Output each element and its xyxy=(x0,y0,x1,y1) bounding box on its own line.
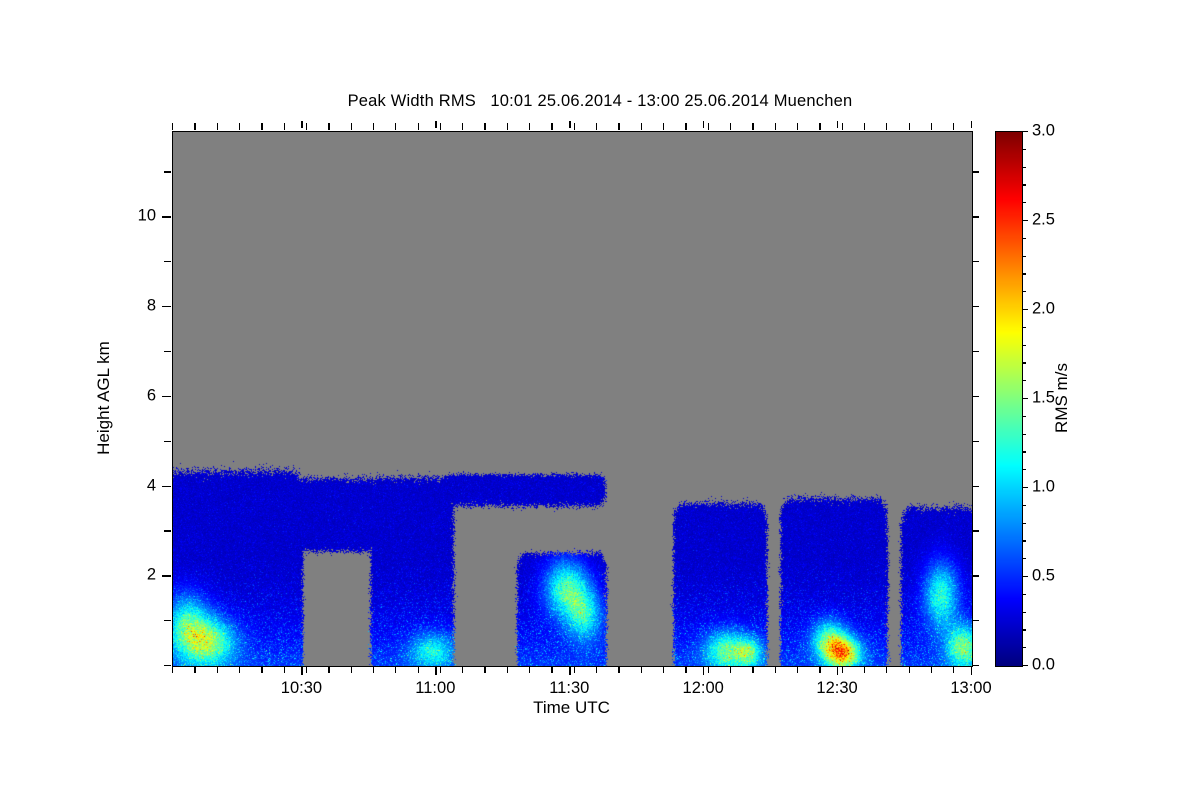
x-axis-minor-tick-top xyxy=(261,123,262,130)
x-axis-minor-tick-top xyxy=(507,123,508,130)
plot-axes xyxy=(172,131,973,667)
colorbar-minor-tick xyxy=(1022,594,1026,595)
colorbar xyxy=(995,131,1023,667)
x-axis-minor-tick-top xyxy=(418,123,419,130)
y-axis-major-tick-right xyxy=(972,486,979,487)
x-axis-minor-tick xyxy=(708,666,709,673)
y-axis-minor-tick-right xyxy=(972,620,979,621)
x-axis-minor-tick xyxy=(484,666,485,673)
x-axis-minor-tick-top xyxy=(931,123,932,130)
x-axis-minor-tick xyxy=(507,666,508,673)
x-axis-minor-tick xyxy=(663,666,664,673)
x-axis-minor-tick-top xyxy=(909,123,910,130)
colorbar-minor-tick xyxy=(1022,558,1026,559)
y-axis-major-tick-right xyxy=(972,216,979,217)
x-axis-major-tick-top xyxy=(971,121,972,128)
y-axis-minor-tick xyxy=(164,441,171,442)
x-axis-major-tick xyxy=(435,666,436,675)
colorbar-major-tick xyxy=(1022,398,1028,399)
x-axis-major-tick-top xyxy=(569,121,570,128)
colorbar-minor-tick xyxy=(1022,184,1026,185)
y-axis-minor-tick xyxy=(164,171,171,172)
x-axis-minor-tick xyxy=(529,666,530,673)
x-axis-minor-tick-top xyxy=(194,123,195,130)
x-axis-minor-tick xyxy=(462,666,463,673)
y-axis-major-tick-right xyxy=(972,575,979,576)
colorbar-tick-label: 2.5 xyxy=(1032,211,1055,230)
x-axis-major-tick xyxy=(703,666,704,675)
x-axis-minor-tick-top xyxy=(172,123,173,130)
y-axis-minor-tick-right xyxy=(972,171,979,172)
colorbar-minor-tick xyxy=(1022,612,1026,613)
x-axis-minor-tick-top xyxy=(373,123,374,130)
x-axis-minor-tick xyxy=(775,666,776,673)
x-axis-minor-tick-top xyxy=(864,123,865,130)
x-axis-minor-tick xyxy=(842,666,843,673)
colorbar-minor-tick xyxy=(1022,149,1026,150)
colorbar-major-tick xyxy=(1022,131,1028,132)
x-axis-minor-tick-top xyxy=(284,123,285,130)
y-axis-tick-label: 4 xyxy=(147,476,156,495)
x-axis-minor-tick xyxy=(284,666,285,673)
x-axis-minor-tick-top xyxy=(328,123,329,130)
x-axis-tick-label: 12:00 xyxy=(683,679,724,698)
x-axis-minor-tick xyxy=(819,666,820,673)
x-axis-major-tick-top xyxy=(301,121,302,128)
x-axis-minor-tick xyxy=(909,666,910,673)
x-axis-minor-tick xyxy=(864,666,865,673)
x-axis-minor-tick-top xyxy=(775,123,776,130)
y-axis-minor-tick xyxy=(164,261,171,262)
x-axis-minor-tick xyxy=(395,666,396,673)
x-axis-tick-label: 11:30 xyxy=(549,679,589,698)
x-axis-tick-label: 10:30 xyxy=(281,679,322,698)
x-axis-minor-tick xyxy=(574,666,575,673)
x-axis-minor-tick-top xyxy=(440,123,441,130)
x-axis-minor-tick-top xyxy=(752,123,753,130)
x-axis-major-tick-top xyxy=(435,121,436,128)
colorbar-minor-tick xyxy=(1022,523,1026,524)
y-axis-major-tick xyxy=(162,575,171,576)
colorbar-minor-tick xyxy=(1022,469,1026,470)
x-axis-minor-tick-top xyxy=(819,123,820,130)
colorbar-minor-tick xyxy=(1022,629,1026,630)
x-axis-tick-label: 12:30 xyxy=(816,679,857,698)
x-axis-major-tick xyxy=(301,666,302,675)
x-axis-minor-tick-top xyxy=(953,123,954,130)
colorbar-minor-tick xyxy=(1022,380,1026,381)
x-axis-minor-tick-top xyxy=(618,123,619,130)
colorbar-major-tick xyxy=(1022,665,1028,666)
colorbar-major-tick xyxy=(1022,309,1028,310)
x-axis-major-tick xyxy=(837,666,838,675)
colorbar-tick-label: 0.5 xyxy=(1032,567,1055,586)
x-axis-minor-tick xyxy=(953,666,954,673)
x-axis-major-tick-top xyxy=(837,121,838,128)
y-axis-tick-label: 8 xyxy=(147,297,156,316)
x-axis-minor-tick xyxy=(306,666,307,673)
x-axis-minor-tick-top xyxy=(217,123,218,130)
y-axis-minor-tick xyxy=(164,665,171,666)
figure-canvas: Peak Width RMS 10:01 25.06.2014 - 13:00 … xyxy=(0,0,1200,800)
x-axis-major-tick xyxy=(971,666,972,675)
colorbar-minor-tick xyxy=(1022,291,1026,292)
x-axis-minor-tick xyxy=(730,666,731,673)
x-axis-minor-tick xyxy=(886,666,887,673)
x-axis-minor-tick-top xyxy=(708,123,709,130)
colorbar-major-tick xyxy=(1022,220,1028,221)
x-axis-minor-tick xyxy=(440,666,441,673)
colorbar-minor-tick xyxy=(1022,362,1026,363)
x-axis-minor-tick xyxy=(797,666,798,673)
x-axis-minor-tick xyxy=(194,666,195,673)
y-axis-label: Height AGL km xyxy=(94,341,114,455)
x-axis-minor-tick-top xyxy=(462,123,463,130)
y-axis-major-tick xyxy=(162,396,171,397)
colorbar-minor-tick xyxy=(1022,540,1026,541)
x-axis-minor-tick-top xyxy=(239,123,240,130)
x-axis-minor-tick xyxy=(641,666,642,673)
colorbar-tick-label: 1.0 xyxy=(1032,478,1055,497)
x-axis-minor-tick xyxy=(261,666,262,673)
x-axis-tick-label: 11:00 xyxy=(415,679,455,698)
colorbar-tick-label: 3.0 xyxy=(1032,122,1055,141)
colorbar-minor-tick xyxy=(1022,167,1026,168)
x-axis-minor-tick-top xyxy=(685,123,686,130)
colorbar-minor-tick xyxy=(1022,345,1026,346)
x-axis-minor-tick xyxy=(752,666,753,673)
colorbar-minor-tick xyxy=(1022,256,1026,257)
y-axis-minor-tick-right xyxy=(972,351,979,352)
colorbar-minor-tick xyxy=(1022,416,1026,417)
colorbar-tick-label: 2.0 xyxy=(1032,300,1055,319)
y-axis-minor-tick-right xyxy=(972,261,979,262)
x-axis-minor-tick-top xyxy=(529,123,530,130)
y-axis-major-tick-right xyxy=(972,306,979,307)
x-axis-label: Time UTC xyxy=(172,698,971,718)
colorbar-minor-tick xyxy=(1022,434,1026,435)
colorbar-minor-tick xyxy=(1022,647,1026,648)
colorbar-gradient xyxy=(996,132,1022,666)
y-axis-minor-tick xyxy=(164,530,171,531)
y-axis-major-tick xyxy=(162,306,171,307)
x-axis-minor-tick-top xyxy=(395,123,396,130)
colorbar-minor-tick xyxy=(1022,273,1026,274)
x-axis-minor-tick xyxy=(551,666,552,673)
x-axis-minor-tick xyxy=(172,666,173,673)
x-axis-tick-label: 13:00 xyxy=(950,679,991,698)
x-axis-minor-tick xyxy=(239,666,240,673)
y-axis-tick-label: 10 xyxy=(138,207,156,226)
x-axis-minor-tick xyxy=(596,666,597,673)
colorbar-major-tick xyxy=(1022,576,1028,577)
x-axis-minor-tick-top xyxy=(551,123,552,130)
x-axis-minor-tick-top xyxy=(730,123,731,130)
x-axis-minor-tick xyxy=(418,666,419,673)
x-axis-minor-tick-top xyxy=(842,123,843,130)
y-axis-tick-label: 2 xyxy=(147,566,156,585)
x-axis-minor-tick-top xyxy=(306,123,307,130)
x-axis-minor-tick-top xyxy=(641,123,642,130)
x-axis-minor-tick xyxy=(618,666,619,673)
x-axis-minor-tick-top xyxy=(663,123,664,130)
colorbar-label: RMS m/s xyxy=(1052,363,1072,433)
colorbar-minor-tick xyxy=(1022,505,1026,506)
heatmap-data-area xyxy=(173,132,972,666)
y-axis-minor-tick xyxy=(164,620,171,621)
x-axis-minor-tick xyxy=(351,666,352,673)
x-axis-minor-tick-top xyxy=(596,123,597,130)
x-axis-minor-tick xyxy=(685,666,686,673)
x-axis-minor-tick-top xyxy=(574,123,575,130)
colorbar-tick-label: 0.0 xyxy=(1032,656,1055,675)
colorbar-minor-tick xyxy=(1022,202,1026,203)
y-axis-major-tick xyxy=(162,486,171,487)
y-axis-minor-tick xyxy=(164,351,171,352)
x-axis-major-tick-top xyxy=(703,121,704,128)
x-axis-minor-tick-top xyxy=(484,123,485,130)
x-axis-minor-tick-top xyxy=(351,123,352,130)
colorbar-minor-tick xyxy=(1022,451,1026,452)
x-axis-minor-tick xyxy=(328,666,329,673)
colorbar-major-tick xyxy=(1022,487,1028,488)
x-axis-minor-tick xyxy=(373,666,374,673)
y-axis-major-tick xyxy=(162,216,171,217)
x-axis-minor-tick-top xyxy=(797,123,798,130)
x-axis-minor-tick xyxy=(217,666,218,673)
y-axis-minor-tick-right xyxy=(972,441,979,442)
y-axis-major-tick-right xyxy=(972,396,979,397)
x-axis-major-tick xyxy=(569,666,570,675)
page-title: Peak Width RMS 10:01 25.06.2014 - 13:00 … xyxy=(0,92,1200,111)
colorbar-minor-tick xyxy=(1022,238,1026,239)
y-axis-minor-tick-right xyxy=(972,665,979,666)
x-axis-minor-tick-top xyxy=(886,123,887,130)
colorbar-minor-tick xyxy=(1022,327,1026,328)
y-axis-minor-tick-right xyxy=(972,530,979,531)
y-axis-tick-label: 6 xyxy=(147,386,156,405)
x-axis-minor-tick xyxy=(931,666,932,673)
